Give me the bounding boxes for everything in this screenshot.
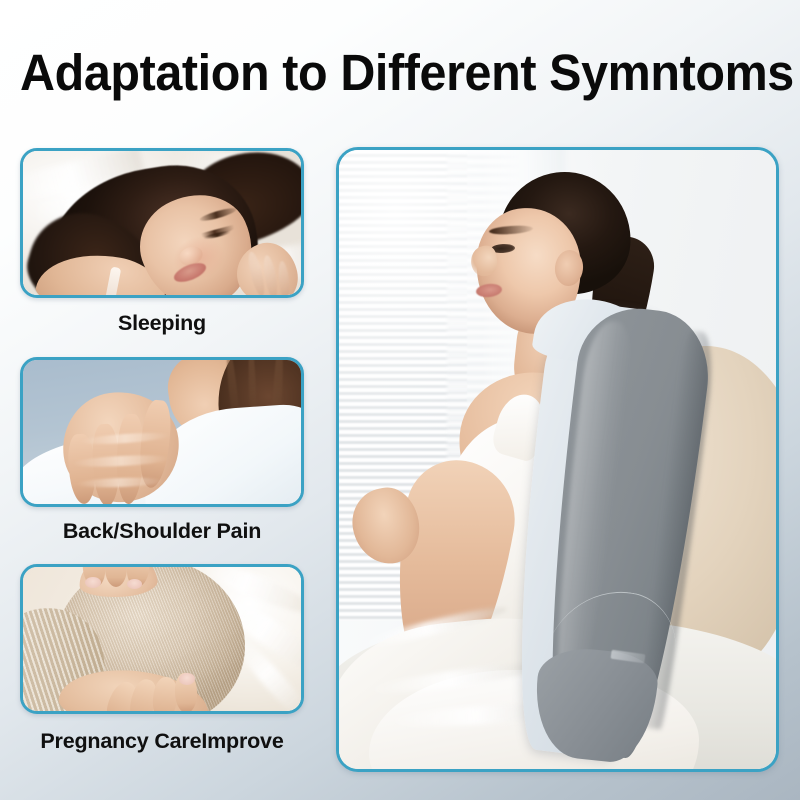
thumbnail-card-back-shoulder-pain[interactable]: [20, 357, 304, 507]
infographic-page: Adaptation to Different Symntoms: [0, 0, 800, 800]
thumbnail-image-back-shoulder-pain: [23, 360, 301, 504]
caption-back-shoulder-pain: Back/Shoulder Pain: [20, 519, 304, 544]
thumbnail-card-sleeping[interactable]: [20, 148, 304, 298]
thumbnail-image-sleeping: [23, 151, 301, 295]
fingernail: [127, 579, 142, 589]
thumbnail-card-pregnancy-care[interactable]: [20, 564, 304, 714]
fingernail: [85, 577, 101, 588]
thumbnail-image-pregnancy-care: [23, 567, 301, 711]
caption-pregnancy-care: Pregnancy CareImprove: [20, 729, 304, 754]
main-product-photo: [339, 150, 776, 769]
page-title: Adaptation to Different Symntoms: [20, 46, 780, 100]
caption-sleeping: Sleeping: [20, 311, 304, 336]
main-product-photo-panel[interactable]: [336, 147, 779, 772]
